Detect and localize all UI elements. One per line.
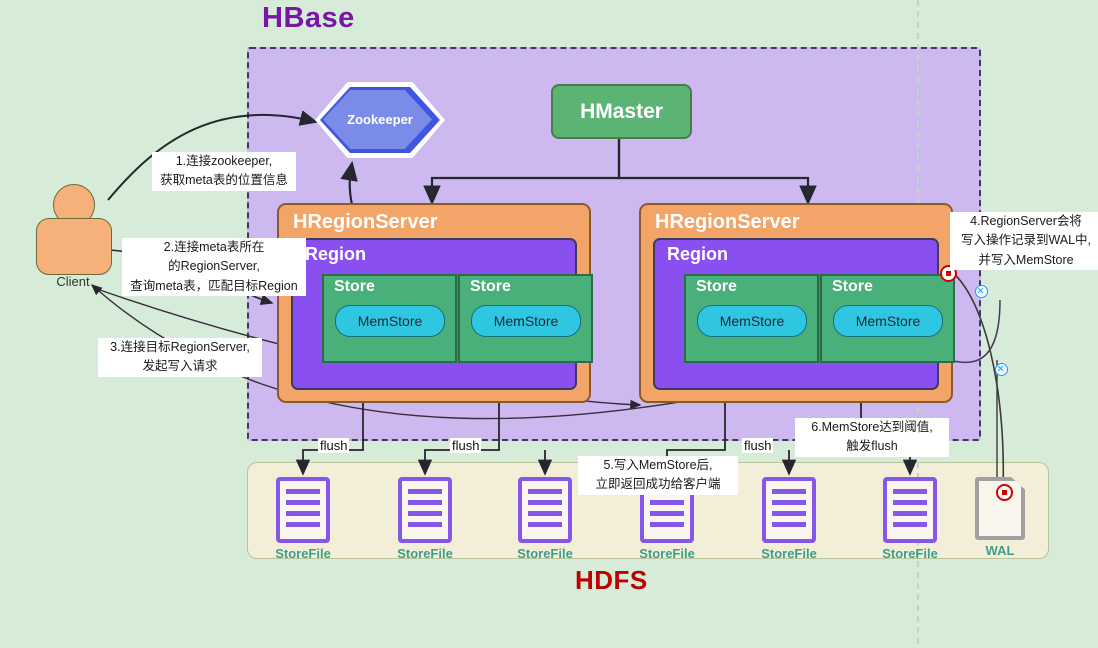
- wal-label: WAL: [955, 543, 1045, 558]
- store-1-2-title: Store: [470, 278, 511, 296]
- storefile-5-label: StoreFile: [744, 546, 834, 561]
- storefile-icon: [518, 477, 572, 543]
- note-step-3: 3.连接目标RegionServer, 发起写入请求: [98, 338, 262, 377]
- note-step-5: 5.写入MemStore后, 立即返回成功给客户端: [578, 456, 738, 495]
- storefile-icon: [398, 477, 452, 543]
- storefile-1[interactable]: StoreFile: [258, 477, 348, 561]
- wal-connector-waypoint-2[interactable]: [995, 363, 1008, 376]
- region-1-title: Region: [305, 244, 366, 265]
- store-1-1[interactable]: Store MemStore: [322, 274, 457, 363]
- store-2-2-title: Store: [832, 278, 873, 296]
- flush-label-1: flush: [318, 438, 349, 453]
- storefile-4-label: StoreFile: [622, 546, 712, 561]
- hbase-title: HBase: [262, 2, 355, 35]
- storefile-5[interactable]: StoreFile: [744, 477, 834, 561]
- storefile-3-label: StoreFile: [500, 546, 590, 561]
- region-2[interactable]: Region Store MemStore Store MemStore: [653, 238, 939, 390]
- hmaster-node[interactable]: HMaster: [551, 84, 692, 139]
- store-2-1-title: Store: [696, 278, 737, 296]
- memstore-2-1[interactable]: MemStore: [697, 305, 807, 337]
- hregionserver-2[interactable]: HRegionServer Region Store MemStore Stor…: [639, 203, 953, 403]
- memstore-2-2[interactable]: MemStore: [833, 305, 943, 337]
- hdfs-title: HDFS: [575, 565, 648, 596]
- flush-label-2: flush: [450, 438, 481, 453]
- storefile-icon: [883, 477, 937, 543]
- storefile-2-label: StoreFile: [380, 546, 470, 561]
- store-2-2[interactable]: Store MemStore: [820, 274, 955, 363]
- diagram-canvas: HBase HDFS: [0, 0, 1098, 648]
- storefile-6-label: StoreFile: [865, 546, 955, 561]
- storefile-icon: [276, 477, 330, 543]
- client-actor[interactable]: Client: [36, 184, 110, 289]
- wal-connector-waypoint-1[interactable]: [975, 285, 988, 298]
- note-step-1: 1.连接zookeeper, 获取meta表的位置信息: [152, 152, 296, 191]
- client-label: Client: [36, 274, 110, 289]
- region-1[interactable]: Region Store MemStore Store MemStore: [291, 238, 577, 390]
- zookeeper-label: Zookeeper: [347, 82, 413, 158]
- storefile-icon: [762, 477, 816, 543]
- zookeeper-node[interactable]: Zookeeper: [315, 82, 445, 158]
- store-2-1[interactable]: Store MemStore: [684, 274, 819, 363]
- note-step-6: 6.MemStore达到阈值, 触发flush: [795, 418, 949, 457]
- client-body-icon: [36, 218, 112, 275]
- region-2-title: Region: [667, 244, 728, 265]
- storefile-2[interactable]: StoreFile: [380, 477, 470, 561]
- store-1-1-title: Store: [334, 278, 375, 296]
- hregionserver-2-title: HRegionServer: [655, 211, 800, 234]
- wal-connector-end-marker[interactable]: [996, 484, 1013, 501]
- flush-label-3: flush: [742, 438, 773, 453]
- hregionserver-1-title: HRegionServer: [293, 211, 438, 234]
- memstore-1-1[interactable]: MemStore: [335, 305, 445, 337]
- storefile-6[interactable]: StoreFile: [865, 477, 955, 561]
- memstore-1-2[interactable]: MemStore: [471, 305, 581, 337]
- hregionserver-1[interactable]: HRegionServer Region Store MemStore Stor…: [277, 203, 591, 403]
- storefile-1-label: StoreFile: [258, 546, 348, 561]
- note-step-4: 4.RegionServer会将 写入操作记录到WAL中, 并写入MemStor…: [950, 212, 1098, 270]
- storefile-3[interactable]: StoreFile: [500, 477, 590, 561]
- store-1-2[interactable]: Store MemStore: [458, 274, 593, 363]
- note-step-2: 2.连接meta表所在 的RegionServer, 查询meta表，匹配目标R…: [122, 238, 306, 296]
